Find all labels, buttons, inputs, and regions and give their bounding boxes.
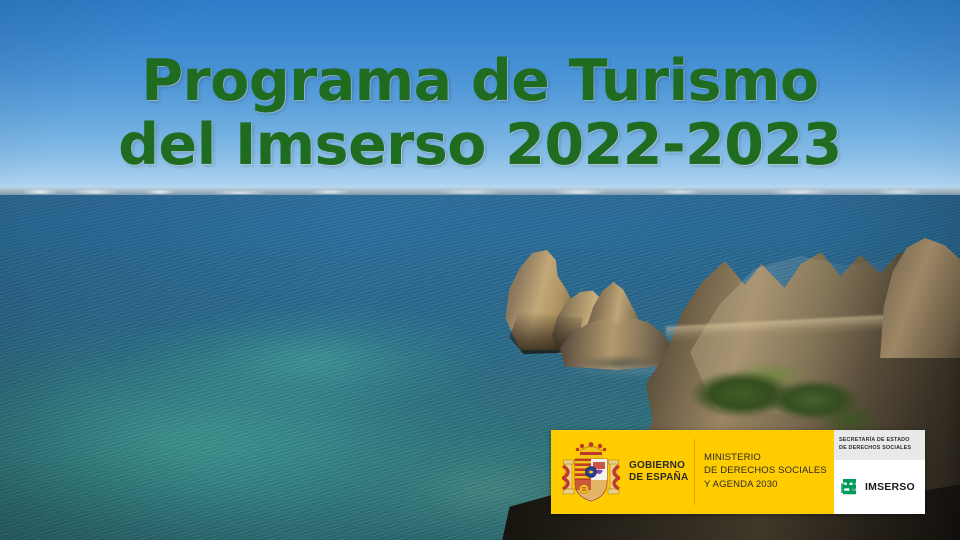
imserso-logo-icon [839, 476, 861, 498]
imserso-logo-row: IMSERSO [834, 460, 925, 514]
government-line-2: DE ESPAÑA [629, 472, 688, 485]
escudo-de-espana-icon [562, 439, 620, 505]
government-block: GOBIERNO DE ESPAÑA MINISTERIO DE DERECHO… [551, 430, 834, 514]
ministry-label: MINISTERIO DE DERECHOS SOCIALES Y AGENDA… [704, 451, 827, 491]
ministry-line-2: DE DERECHOS SOCIALES [704, 464, 827, 477]
ministry-line-3: Y AGENDA 2030 [704, 478, 827, 491]
banner-divider [694, 439, 695, 505]
institutional-banner: GOBIERNO DE ESPAÑA MINISTERIO DE DERECHO… [551, 430, 925, 514]
government-label: GOBIERNO DE ESPAÑA [629, 460, 688, 485]
imserso-block: SECRETARÍA DE ESTADO DE DERECHOS SOCIALE… [834, 430, 925, 514]
secretariat-line-2: DE DERECHOS SOCIALES [839, 445, 920, 453]
poster-canvas: Programa de Turismo del Imserso 2022-202… [0, 0, 960, 540]
ministry-line-1: MINISTERIO [704, 451, 827, 464]
secretariat-label: SECRETARÍA DE ESTADO DE DERECHOS SOCIALE… [834, 430, 925, 460]
imserso-wordmark: IMSERSO [865, 481, 915, 493]
secretariat-line-1: SECRETARÍA DE ESTADO [839, 437, 920, 445]
distant-buildings [0, 186, 960, 194]
sky-background [0, 0, 960, 196]
government-line-1: GOBIERNO [629, 460, 688, 473]
